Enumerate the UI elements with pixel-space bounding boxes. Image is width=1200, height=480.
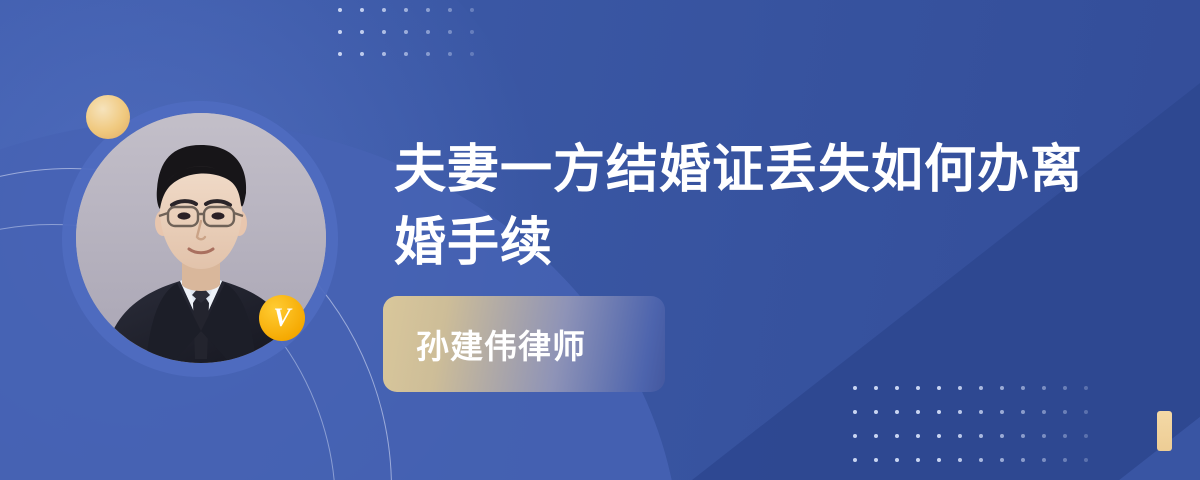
decorative-dot bbox=[338, 30, 342, 34]
decorative-dot bbox=[1000, 410, 1004, 414]
verified-mark-label: V bbox=[273, 305, 290, 331]
decorative-dot bbox=[404, 52, 408, 56]
decorative-dot bbox=[895, 458, 899, 462]
decorative-dot bbox=[448, 52, 452, 56]
decorative-dot bbox=[1084, 410, 1088, 414]
decorative-dot bbox=[360, 8, 364, 12]
decorative-dot bbox=[937, 458, 941, 462]
decorative-dot bbox=[338, 52, 342, 56]
decorative-dot bbox=[470, 30, 474, 34]
decorative-dot bbox=[448, 8, 452, 12]
decorative-dot bbox=[895, 410, 899, 414]
decorative-dot bbox=[1021, 386, 1025, 390]
decorative-dot bbox=[1042, 458, 1046, 462]
decorative-dot bbox=[1000, 434, 1004, 438]
decorative-dot bbox=[874, 410, 878, 414]
decorative-dot bbox=[448, 30, 452, 34]
decorative-dot bbox=[979, 434, 983, 438]
dot-grid-bottom bbox=[853, 386, 1105, 480]
decorative-dot bbox=[470, 52, 474, 56]
decorative-dot bbox=[853, 458, 857, 462]
gold-dot-decoration bbox=[86, 95, 130, 139]
decorative-dot bbox=[1084, 386, 1088, 390]
decorative-dot bbox=[1042, 410, 1046, 414]
decorative-dot bbox=[874, 434, 878, 438]
decorative-dot bbox=[916, 386, 920, 390]
decorative-dot bbox=[382, 8, 386, 12]
author-name-label: 孙建伟律师 bbox=[416, 320, 586, 368]
verified-check-icon: V bbox=[259, 295, 305, 341]
decorative-dot bbox=[1021, 434, 1025, 438]
decorative-dot bbox=[853, 434, 857, 438]
decorative-dot bbox=[1000, 458, 1004, 462]
decorative-dot bbox=[426, 52, 430, 56]
decorative-dot bbox=[979, 458, 983, 462]
dot-grid-top bbox=[338, 8, 492, 74]
decorative-dot bbox=[1021, 410, 1025, 414]
decorative-dot bbox=[404, 8, 408, 12]
decorative-dot bbox=[895, 386, 899, 390]
decorative-dot bbox=[958, 386, 962, 390]
decorative-dot bbox=[958, 410, 962, 414]
decorative-dot bbox=[426, 30, 430, 34]
decorative-dot bbox=[1042, 434, 1046, 438]
decorative-dot bbox=[916, 434, 920, 438]
decorative-dot bbox=[470, 8, 474, 12]
decorative-dot bbox=[338, 8, 342, 12]
decorative-dot bbox=[853, 410, 857, 414]
decorative-dot bbox=[979, 410, 983, 414]
decorative-dot bbox=[1084, 434, 1088, 438]
decorative-dot bbox=[1063, 434, 1067, 438]
decorative-dot bbox=[360, 30, 364, 34]
decorative-dot bbox=[1084, 458, 1088, 462]
decorative-dot bbox=[382, 30, 386, 34]
decorative-dot bbox=[404, 30, 408, 34]
lawyer-article-banner: V 夫妻一方结婚证丢失如何办离婚手续 孙建伟律师 bbox=[0, 0, 1200, 480]
avatar: V bbox=[62, 101, 338, 377]
decorative-dot bbox=[979, 386, 983, 390]
decorative-dot bbox=[874, 386, 878, 390]
gold-bar-decoration bbox=[1157, 411, 1172, 451]
decorative-dot bbox=[916, 410, 920, 414]
decorative-dot bbox=[937, 434, 941, 438]
decorative-dot bbox=[916, 458, 920, 462]
author-badge: 孙建伟律师 bbox=[383, 296, 665, 392]
decorative-dot bbox=[426, 8, 430, 12]
decorative-dot bbox=[1000, 386, 1004, 390]
decorative-dot bbox=[958, 434, 962, 438]
decorative-dot bbox=[1063, 386, 1067, 390]
decorative-dot bbox=[1063, 410, 1067, 414]
decorative-dot bbox=[382, 52, 386, 56]
decorative-dot bbox=[1042, 386, 1046, 390]
page-title: 夫妻一方结婚证丢失如何办离婚手续 bbox=[394, 134, 1084, 280]
decorative-dot bbox=[895, 434, 899, 438]
decorative-dot bbox=[853, 386, 857, 390]
decorative-dot bbox=[1063, 458, 1067, 462]
decorative-dot bbox=[958, 458, 962, 462]
decorative-dot bbox=[1021, 458, 1025, 462]
decorative-dot bbox=[360, 52, 364, 56]
decorative-dot bbox=[874, 458, 878, 462]
decorative-dot bbox=[937, 386, 941, 390]
decorative-dot bbox=[937, 410, 941, 414]
